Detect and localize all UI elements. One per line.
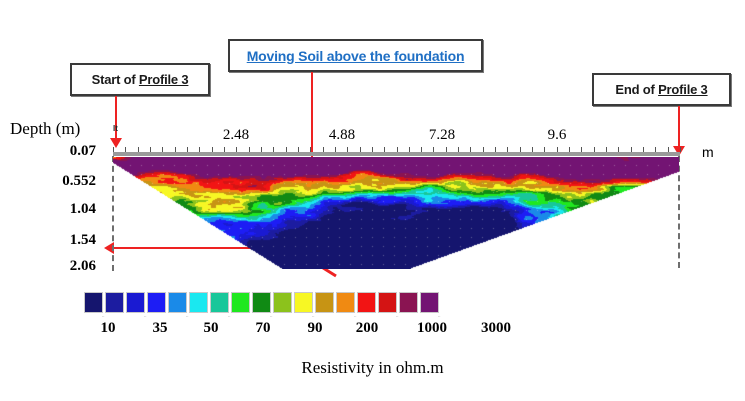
colorbar-swatch (231, 292, 250, 313)
colorbar-swatch (189, 292, 208, 313)
y-tick-label: 0.07 (32, 143, 96, 160)
colorbar-tick-label: 1000 (417, 320, 447, 337)
colorbar-tick-label: 90 (308, 320, 323, 337)
resistivity-pseudosection (113, 157, 679, 269)
callout-end-text: End of Profile 3 (615, 82, 707, 97)
callout-start-of-profile[interactable]: Start of Profile 3 (70, 63, 210, 96)
colorbar-swatch (294, 292, 313, 313)
colorbar-swatch (252, 292, 271, 313)
y-tick-label: 1.54 (32, 232, 96, 249)
colorbar-minor-ticks: .................. (84, 313, 464, 319)
y-tick-label: 1.04 (32, 201, 96, 218)
colorbar-swatch (105, 292, 124, 313)
y-tick-label: 0.552 (32, 173, 96, 190)
colorbar-swatch (315, 292, 334, 313)
colorbar-swatch (84, 292, 103, 313)
x-axis-unit-label: m (702, 144, 714, 160)
colorbar-swatch (399, 292, 418, 313)
resistivity-colorbar (84, 292, 439, 313)
colorbar-tick-label: 50 (204, 320, 219, 337)
colorbar-swatch (147, 292, 166, 313)
colorbar-swatch (168, 292, 187, 313)
colorbar-swatch (378, 292, 397, 313)
callout-moving-soil[interactable]: Moving Soil above the foundation (228, 39, 483, 72)
colorbar-swatch (420, 292, 439, 313)
colorbar-tick-label: 10 (101, 320, 116, 337)
callout-end-of-profile[interactable]: End of Profile 3 (592, 73, 731, 106)
leader-line-end (678, 106, 680, 148)
figure-caption: Resistivity in ohm.m (0, 358, 745, 378)
x-tick-label: 7.28 (412, 127, 472, 144)
y-tick-label: 2.06 (32, 258, 96, 275)
origin-marker-label: lt (113, 124, 118, 133)
x-tick-label: 2.48 (206, 127, 266, 144)
x-tick-label: 9.6 (527, 127, 587, 144)
colorbar-tick-label: 70 (256, 320, 271, 337)
callout-start-text: Start of Profile 3 (92, 72, 189, 87)
colorbar-swatch (336, 292, 355, 313)
colorbar-tick-label: 35 (153, 320, 168, 337)
x-tick-label: 4.88 (312, 127, 372, 144)
colorbar-tick-labels: 103550709020010003000 (84, 320, 484, 340)
colorbar-swatch (357, 292, 376, 313)
colorbar-swatch (273, 292, 292, 313)
y-axis-title: Depth (m) (10, 119, 80, 139)
callout-moving-soil-text: Moving Soil above the foundation (247, 48, 465, 64)
colorbar-tick-label: 200 (356, 320, 379, 337)
leader-line-start (115, 96, 117, 140)
x-axis-bar (113, 152, 680, 156)
colorbar-swatch (126, 292, 145, 313)
colorbar-tick-label: 3000 (481, 320, 511, 337)
colorbar-swatch (210, 292, 229, 313)
